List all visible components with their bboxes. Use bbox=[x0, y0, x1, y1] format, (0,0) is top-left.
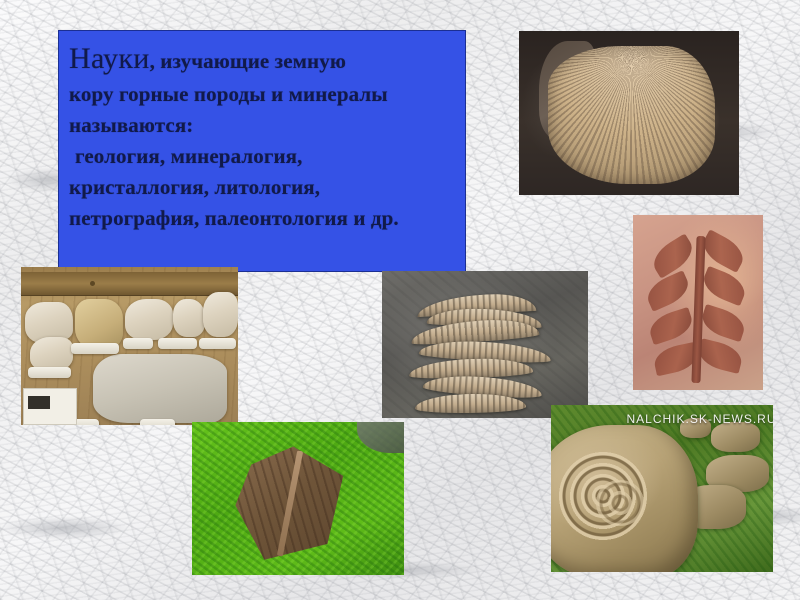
background-rock bbox=[711, 422, 760, 452]
photo-petroglyph-stone: NALCHIK.SK-NEWS.RU bbox=[551, 405, 773, 572]
photo-leaf-fossil bbox=[192, 422, 404, 575]
plant-leaf bbox=[646, 307, 696, 346]
plant-leaf bbox=[699, 265, 750, 306]
photo-plant-fossil bbox=[633, 215, 763, 390]
core-sample bbox=[158, 338, 197, 349]
leaf-fossil-corner-stone bbox=[357, 422, 404, 453]
leaf-fossil-background bbox=[192, 422, 404, 575]
textbox-line-5: кристаллогия, литология, bbox=[69, 172, 457, 203]
news-watermark: NALCHIK.SK-NEWS.RU bbox=[626, 412, 773, 426]
petroglyph-boulder bbox=[551, 425, 698, 572]
lead-word: Науки bbox=[69, 42, 150, 75]
core-sample bbox=[123, 338, 153, 349]
core-sample bbox=[140, 419, 175, 425]
textbox-line-1-rest: , изучающие земную bbox=[150, 49, 346, 73]
rock-specimen bbox=[75, 299, 123, 350]
crinoid-arm bbox=[415, 393, 527, 414]
textbox-line-4: геология, минералогия, bbox=[69, 141, 457, 172]
plant-leaf bbox=[643, 270, 694, 312]
core-sample bbox=[71, 343, 119, 354]
plant-leaf bbox=[695, 338, 744, 374]
core-sample bbox=[199, 338, 236, 349]
photo-crinoid-fossil bbox=[382, 271, 588, 418]
rock-specimen bbox=[93, 354, 228, 424]
specimen-label-card bbox=[23, 388, 77, 425]
slide-canvas: Науки, изучающие земную кору горные поро… bbox=[0, 0, 800, 600]
photo-table-collection bbox=[21, 267, 238, 425]
textbox-line-2: кору горные породы и минералы bbox=[69, 79, 457, 110]
plant-fossil-background bbox=[633, 215, 763, 390]
table-collection-background bbox=[21, 267, 238, 425]
crinoid-fossil-background bbox=[382, 271, 588, 418]
textbox-line-3: называются: bbox=[69, 110, 457, 141]
title-textbox: Науки, изучающие земную кору горные поро… bbox=[58, 30, 466, 272]
photo-fan-fossil bbox=[519, 31, 739, 195]
fan-fossil-specimen bbox=[548, 46, 715, 184]
rock-specimen bbox=[173, 299, 206, 337]
plant-leaf bbox=[648, 233, 699, 279]
plant-leaf bbox=[698, 303, 748, 342]
textbox-line-1: Науки, изучающие земную bbox=[69, 41, 457, 79]
rock-specimen bbox=[203, 292, 238, 336]
fan-fossil-background bbox=[519, 31, 739, 195]
core-sample bbox=[28, 367, 71, 378]
textbox-line-6: петрография, палеонтология и др. bbox=[69, 203, 457, 234]
rock-specimen bbox=[125, 299, 173, 340]
table-plank bbox=[21, 272, 238, 297]
petroglyph-stone-background: NALCHIK.SK-NEWS.RU bbox=[551, 405, 773, 572]
